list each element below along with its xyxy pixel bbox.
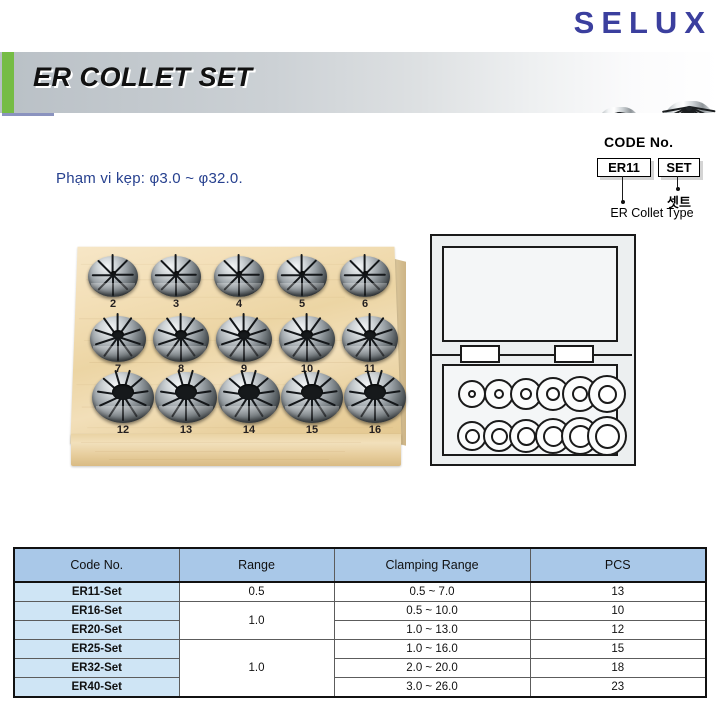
collet-item [88,256,138,297]
wood-grain-line [95,451,345,452]
tray-hole-bore [465,429,480,444]
banner-collet [658,101,720,113]
tray-hole [588,375,626,413]
collet-bore [300,271,305,275]
collet-slit [281,274,302,276]
leader-dot-collet-type [621,200,625,204]
collet-bore [238,330,250,339]
collet-bore [364,330,376,339]
cell-clamping-range: 0.5 ~ 7.0 [334,582,530,602]
spec-table: Code No. Range Clamping Range PCS ER11-S… [13,547,707,698]
cell-pcs: 10 [530,602,706,621]
banner-collet [592,107,646,113]
collet-slit [302,274,323,276]
code-type-caption: ER Collet Type [590,206,714,220]
tray-hole-bore [494,389,504,399]
cell-clamping-range: 2.0 ~ 20.0 [334,659,530,678]
tray-hole-bore [517,427,536,446]
collet-item [151,256,201,297]
collet-label: 5 [271,298,333,310]
collet-item [153,316,209,362]
table-header-row: Code No. Range Clamping Range PCS [14,548,706,582]
tray-hole-bore [491,428,508,445]
case-tray [442,364,618,456]
cell-code-no: ER16-Set [14,602,179,621]
collet-label: 6 [334,298,396,310]
collet-item [340,256,390,297]
tray-hole-bore [520,388,532,400]
column-header-pcs: PCS [530,548,706,582]
collet-bore [175,330,187,339]
collet-bore [237,271,242,275]
collet-slit [344,274,365,276]
banner-blue-underline [2,113,54,116]
wood-grain-line [109,459,329,460]
collet-item [216,316,272,362]
collet-item [92,372,154,423]
table-row: ER16-Set1.00.5 ~ 10.010 [14,602,706,621]
spec-table-body: ER11-Set0.50.5 ~ 7.013ER16-Set1.00.5 ~ 1… [14,582,706,697]
collet-label: 2 [82,298,144,310]
column-header-range: Range [179,548,334,582]
tray-hole-bore [468,390,476,398]
green-accent-bar [2,52,14,113]
collet-slit [239,274,260,276]
cell-clamping-range: 1.0 ~ 13.0 [334,621,530,640]
collet-item [279,316,335,362]
cell-pcs: 18 [530,659,706,678]
table-row: ER32-Set2.0 ~ 20.018 [14,659,706,678]
cell-code-no: ER32-Set [14,659,179,678]
case-lid [442,246,618,342]
collet-slit [365,274,386,276]
tray-hole-bore [572,386,588,402]
collet-bore [301,330,313,339]
code-box-collet-type: ER11 [597,158,651,177]
banner-collet-ray [619,112,643,113]
collet-item [281,372,343,423]
tray-hole [587,416,627,456]
collet-item [218,372,280,423]
wood-block-front [71,434,401,466]
brand-logo-text: SELUX [574,6,712,40]
collet-label: 16 [338,424,412,436]
cell-pcs: 23 [530,678,706,698]
spec-table-container: Code No. Range Clamping Range PCS ER11-S… [13,547,707,698]
cell-clamping-range: 1.0 ~ 16.0 [334,640,530,659]
leader-line-collet-type [622,176,623,203]
case-latch-right [554,345,594,363]
tray-hole-bore [598,385,617,404]
collet-slit [113,274,134,276]
leader-dot-set [676,187,680,191]
collet-block-photo: 2345678910111213141516 [62,238,410,482]
cell-clamping-range: 0.5 ~ 10.0 [334,602,530,621]
banner-collet-hub [616,112,621,113]
table-row: ER20-Set1.0 ~ 13.012 [14,621,706,640]
column-header-code-no: Code No. [14,548,179,582]
table-row: ER25-Set1.01.0 ~ 16.015 [14,640,706,659]
collet-bore [363,271,368,275]
cell-code-no: ER11-Set [14,582,179,602]
column-header-clamping-range: Clamping Range [334,548,530,582]
collet-label: 4 [208,298,270,310]
collet-bore [112,330,124,339]
collet-item [344,372,406,423]
collet-slit [176,274,197,276]
collet-item [214,256,264,297]
tray-hole-bore [546,387,560,401]
collet-item [277,256,327,297]
cell-clamping-range: 3.0 ~ 26.0 [334,678,530,698]
collet-item [90,316,146,362]
table-row: ER11-Set0.50.5 ~ 7.013 [14,582,706,602]
cell-range: 0.5 [179,582,334,602]
clamp-range-note: Phạm vi kẹp: φ3.0 ~ φ32.0. [56,170,243,187]
collet-bore [174,271,179,275]
collet-label: 3 [145,298,207,310]
cell-pcs: 13 [530,582,706,602]
cell-range: 1.0 [179,602,334,640]
case-diagram [430,234,632,462]
collet-bore [111,271,116,275]
collet-slit [155,274,176,276]
collet-slit [218,274,239,276]
cell-code-no: ER20-Set [14,621,179,640]
banner-collet-photos [540,104,720,113]
cell-range: 1.0 [179,640,334,698]
page-title: ER COLLET SET [33,62,253,93]
collet-slit [92,274,113,276]
tray-hole-bore [595,424,620,449]
cell-code-no: ER25-Set [14,640,179,659]
cell-code-no: ER40-Set [14,678,179,698]
cell-pcs: 15 [530,640,706,659]
table-row: ER40-Set3.0 ~ 26.023 [14,678,706,698]
tray-hole [458,380,486,408]
code-no-heading: CODE No. [604,134,673,150]
collet-item [342,316,398,362]
collet-item [155,372,217,423]
brand-logo: SELUX [0,6,712,40]
cell-pcs: 12 [530,621,706,640]
code-no-callout: CODE No. ER11 SET 셋트 ER Collet Type [596,134,708,226]
code-box-set: SET [658,158,700,177]
wood-grain-line [81,442,361,443]
case-latch-left [460,345,500,363]
